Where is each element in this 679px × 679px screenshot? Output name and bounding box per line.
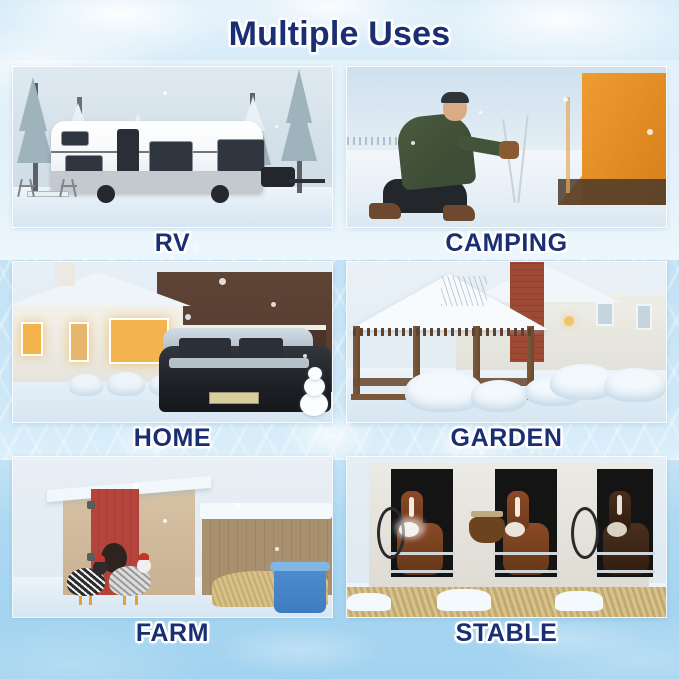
rv-scene-image (13, 67, 332, 227)
image-card-farm[interactable] (13, 457, 332, 617)
caption-stable: STABLE (347, 619, 666, 648)
caption-farm: FARM (13, 619, 332, 648)
poster-root: Multiple Uses (0, 0, 679, 679)
caption-rv: RV (13, 229, 332, 258)
saddle-shape (469, 517, 505, 543)
image-card-camping[interactable] (347, 67, 666, 227)
grid-row-3: FARM (13, 457, 666, 652)
caption-home: HOME (13, 424, 332, 453)
farm-scene-image (13, 457, 332, 617)
blue-bucket-shape (274, 565, 326, 613)
image-card-stable[interactable] (347, 457, 666, 617)
grid-row-1: RV (13, 67, 666, 262)
image-card-rv[interactable] (13, 67, 332, 227)
stable-scene-image (347, 457, 666, 617)
grid-row-2: HOME (13, 262, 666, 457)
image-card-garden[interactable] (347, 262, 666, 422)
page-title: Multiple Uses (0, 15, 679, 54)
garden-scene-image (347, 262, 666, 422)
home-scene-image (13, 262, 332, 422)
image-card-home[interactable] (13, 262, 332, 422)
camping-scene-image (347, 67, 666, 227)
caption-camping: CAMPING (347, 229, 666, 258)
uses-grid: RV (13, 67, 666, 652)
rv-trailer-shape (51, 121, 263, 193)
caption-garden: GARDEN (347, 424, 666, 453)
